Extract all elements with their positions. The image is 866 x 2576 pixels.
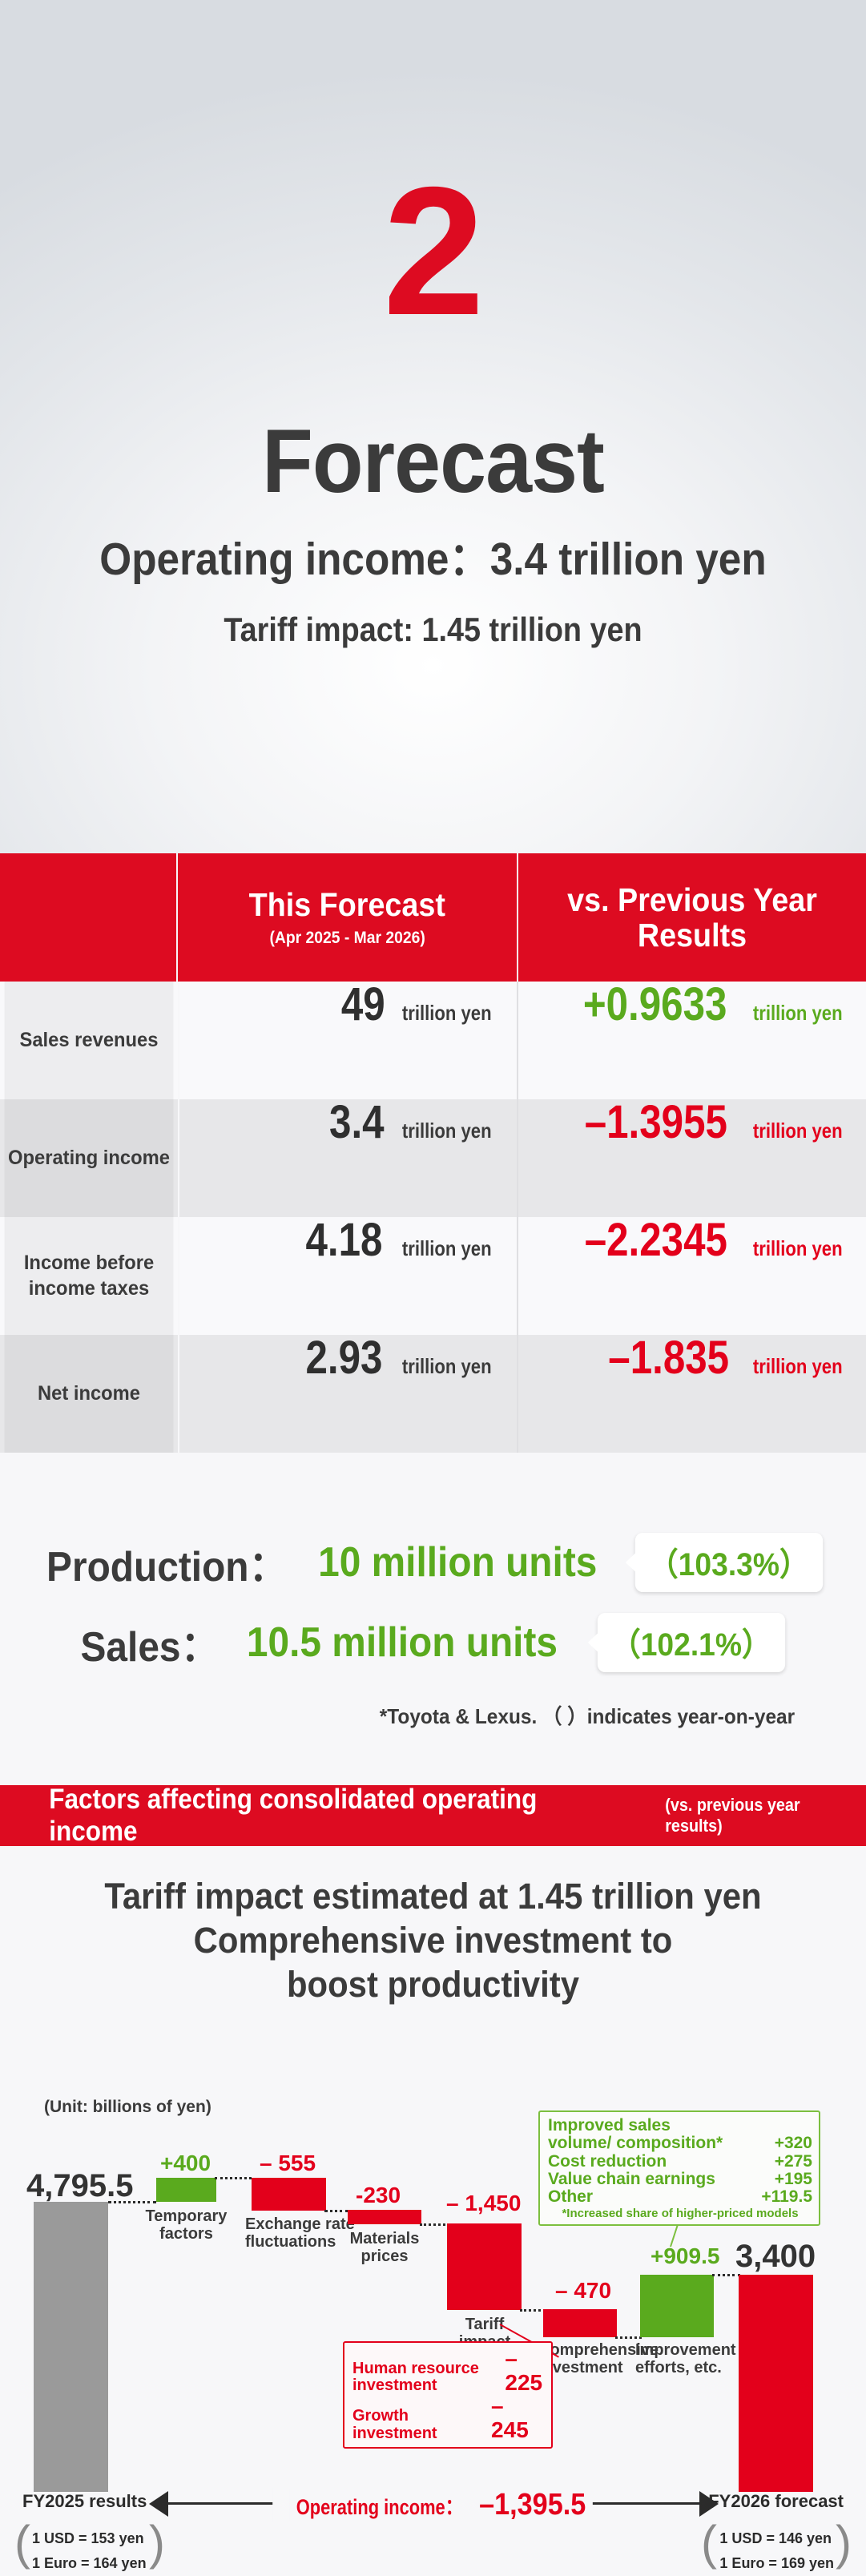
table-row: Operating income 3.4 trillion yen –1.395… [0,1099,866,1217]
production-label: Production： [46,1533,287,1593]
delta-value: –1.835 [608,1335,729,1381]
bar-temporary-factors [156,2178,216,2202]
connector-3 [420,2223,449,2226]
headline-line-3: boost productivity [30,1963,836,2007]
legend-value: +275 [775,2153,812,2171]
table-header-row: This Forecast (Apr 2025 - Mar 2026) vs. … [0,853,866,982]
table-header-vs-previous-year: vs. Previous Year Results [518,853,866,982]
table-row: Net income 2.93 trillion yen –1.835 tril… [0,1335,866,1453]
production-value: 10 million units [318,1538,597,1586]
forecast-value: 2.93 [305,1335,382,1381]
chart-footer-axis: FY2025 results FY2026 forecast Operating… [0,2480,866,2576]
bar-label-comprehensive-investment: – 470 [555,2280,611,2302]
col-a-period: (Apr 2025 - Mar 2026) [269,929,425,948]
right-paren-icon: ( [701,2515,717,2570]
row-delta-cell: –1.835 trillion yen [518,1335,866,1453]
legend-label: Improved sales volume/ composition* [548,2117,739,2153]
col-a-title: This Forecast [249,887,445,922]
legend-footnote: *Increased share of higher-priced models [548,2207,812,2220]
fy2026-exchange-rates: 1 USD = 146 yen 1 Euro = 169 yen [719,2526,834,2575]
table-header-this-forecast: This Forecast (Apr 2025 - Mar 2026) [178,853,518,982]
legend-row: Cost reduction +275 [548,2153,812,2171]
bar-exchange-rate-fluctuations [252,2178,326,2211]
forecast-unit: trillion yen [401,1119,491,1143]
production-line: Production： 10 million units （103.3%） [0,1522,866,1602]
hero-subtitle-operating-income: Operating income：3.4 trillion yen [43,537,823,583]
delta-unit: trillion yen [752,1119,842,1143]
forecast-unit: trillion yen [401,1001,491,1026]
axis-value-prefix: Operating income： [290,2489,469,2521]
legend-label: Cost reduction [548,2153,667,2171]
col-b-title: vs. Previous Year Results [532,882,852,953]
page-title: Forecast [30,417,836,506]
legend-row: Other +119.5 [548,2188,812,2206]
connector-0 [108,2201,156,2203]
connector-5 [615,2336,642,2339]
legend-value: +119.5 [761,2188,812,2206]
connector-2 [324,2210,348,2212]
sales-yoy-badge: （102.1%） [597,1613,784,1672]
section-number: 2 [0,160,866,343]
investment-breakdown-box: Human resource investment – 225 Growth i… [343,2341,553,2449]
row-label: Sales revenues [5,982,174,1099]
delta-value: +0.9633 [583,982,727,1028]
forecast-value: 4.18 [305,1217,382,1264]
axis-value: –1,395.5 [479,2488,586,2522]
bar-label-materials-prices: -230 [356,2184,401,2207]
legend-value: +195 [775,2171,812,2188]
delta-unit: trillion yen [752,1236,842,1261]
bar-fy2025-results [34,2202,108,2492]
bar-category-improvement-efforts: Improvementefforts, etc. [635,2341,720,2377]
bar-tariff-impact [447,2223,522,2310]
rate-euro: 1 Euro = 169 yen [719,2551,834,2576]
hero-section: 2 Forecast Operating income：3.4 trillion… [0,0,866,853]
bar-category-temporary-factors: Temporaryfactors [144,2207,228,2243]
headline-line-2: Comprehensive investment to [30,1919,836,1963]
bar-comprehensive-investment [543,2309,617,2337]
fy2025-exchange-rates: 1 USD = 153 yen 1 Euro = 164 yen [32,2526,147,2575]
bar-label-temporary-factors: +400 [160,2152,211,2175]
bar-improvement-efforts [640,2275,714,2337]
left-paren-icon: ( [14,2515,30,2570]
bar-fy2026-forecast [739,2275,813,2492]
sales-line: Sales： 10.5 million units （102.1%） [0,1602,866,1683]
banner-subtitle: (vs. previous year results) [665,1795,856,1836]
delta-unit: trillion yen [752,1001,842,1026]
bar-label-fy2025-results: 4,795.5 [26,2170,133,2202]
callout-label: Growth investment [352,2408,491,2441]
bar-materials-prices [348,2210,421,2224]
delta-value: –1.3955 [585,1099,727,1146]
row-forecast-cell: 2.93 trillion yen [178,1335,518,1453]
row-label: Net income [5,1335,174,1453]
row-delta-cell: –2.2345 trillion yen [518,1217,866,1335]
rate-usd: 1 USD = 146 yen [719,2526,834,2551]
row-delta-cell: +0.9633 trillion yen [518,982,866,1099]
callout-value: – 225 [505,2347,545,2394]
callout-row: Human resource investment – 225 [352,2347,545,2394]
callout-label: Human resource investment [352,2360,505,2394]
bar-label-exchange-rate-fluctuations: – 555 [260,2152,316,2175]
table-row: Income before income taxes 4.18 trillion… [0,1217,866,1335]
production-yoy-badge: （103.3%） [635,1533,823,1592]
bar-label-fy2026-forecast: 3,400 [735,2240,816,2272]
forecast-value: 3.4 [329,1099,385,1146]
legend-label: Other [548,2188,593,2206]
chart-unit-note: (Unit: billions of yen) [44,2098,211,2117]
row-forecast-cell: 3.4 trillion yen [178,1099,518,1217]
left-paren-close-icon: ) [149,2515,165,2570]
rate-euro: 1 Euro = 164 yen [32,2551,147,2576]
row-forecast-cell: 49 trillion yen [178,982,518,1099]
connector-6 [712,2274,740,2276]
table-row: Sales revenues 49 trillion yen +0.9633 t… [0,982,866,1099]
production-footnote: *Toyota & Lexus. （ ）indicates year-on-ye… [26,1700,840,1730]
banner-title: Factors affecting consolidated operating… [49,1784,614,1848]
delta-unit: trillion yen [752,1354,842,1379]
forecast-value: 49 [341,982,385,1028]
factors-banner: Factors affecting consolidated operating… [0,1785,866,1846]
forecast-unit: trillion yen [401,1354,491,1379]
rate-usd: 1 USD = 153 yen [32,2526,147,2551]
row-label: Operating income [5,1099,174,1217]
delta-value: –2.2345 [585,1217,727,1264]
headline-line-1: Tariff impact estimated at 1.45 trillion… [30,1875,836,1919]
forecast-unit: trillion yen [401,1236,491,1261]
legend-row: Improved sales volume/ composition* +320 [548,2117,812,2153]
callout-row: Growth investment – 245 [352,2394,545,2441]
row-forecast-cell: 4.18 trillion yen [178,1217,518,1335]
bar-category-exchange-rate-fluctuations: Exchange ratefluctuations [245,2215,333,2251]
row-delta-cell: –1.3955 trillion yen [518,1099,866,1217]
axis-center-value-wrap: Operating income：–1,395.5 [0,2488,866,2522]
improvement-breakdown-box: Improved sales volume/ composition* +320… [538,2110,820,2226]
bar-label-improvement-efforts: +909.5 [651,2245,719,2268]
right-paren-close-icon: ) [836,2515,852,2570]
sales-value: 10.5 million units [247,1619,558,1667]
bar-label-tariff-impact: – 1,450 [446,2192,521,2215]
callout-value: – 245 [491,2394,545,2441]
row-label: Income before income taxes [5,1217,174,1335]
bar-category-materials-prices: Materialsprices [344,2230,425,2266]
financial-summary-table: This Forecast (Apr 2025 - Mar 2026) vs. … [0,853,866,1453]
chart-headline: Tariff impact estimated at 1.45 trillion… [30,1875,836,2007]
legend-row: Value chain earnings +195 [548,2171,812,2188]
table-header-blank-cell [0,853,178,982]
legend-value: +320 [775,2135,812,2152]
sales-label: Sales： [80,1613,219,1673]
production-sales-section: Production： 10 million units （103.3%） Sa… [0,1522,866,1730]
legend-label: Value chain earnings [548,2171,715,2188]
connector-1 [215,2177,252,2179]
hero-subtitle-tariff-impact: Tariff impact: 1.45 trillion yen [43,613,823,647]
